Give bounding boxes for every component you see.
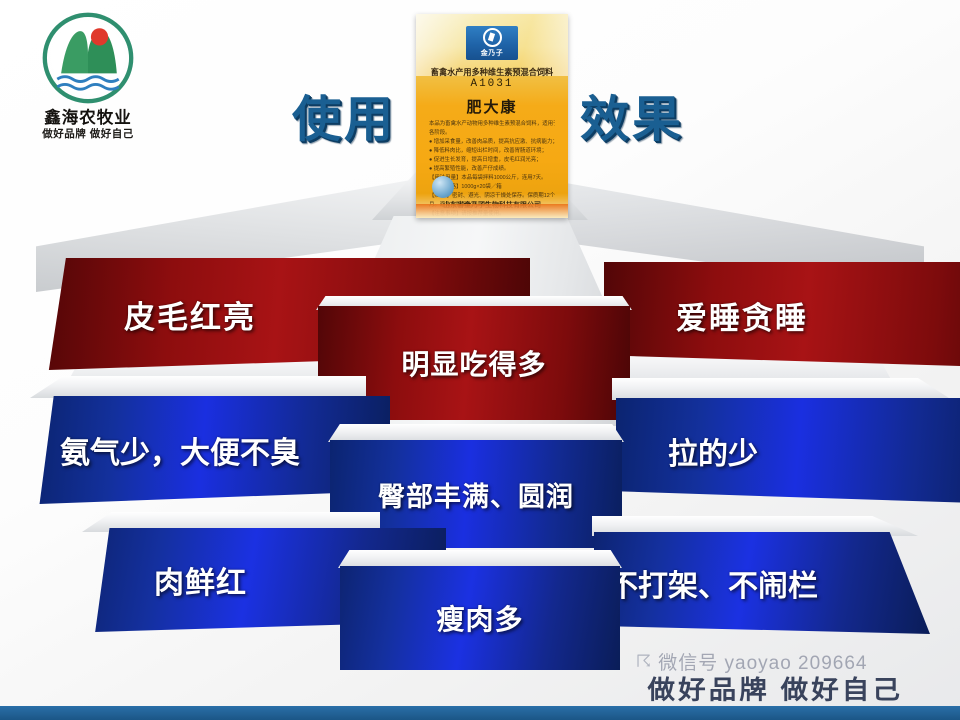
- benefit-label: 氨气少，大便不臭: [60, 428, 300, 472]
- package-category-line: 畜禽水产用多种维生素预混合饲料: [419, 66, 565, 78]
- brand-name: 鑫海农牧业: [18, 104, 158, 128]
- watermark-text: 微信号 yaoyao 209664: [658, 648, 867, 675]
- package-description-line: 各阶段。: [429, 129, 555, 138]
- bottom-accent-bar: [0, 706, 960, 720]
- package-brand-badge: 金乃子: [466, 26, 518, 60]
- benefit-label: 明显吃得多: [401, 343, 546, 383]
- wechat-icon: ☈: [636, 652, 652, 672]
- package-description-line: ● 提高繁殖性能，改善产仔成绩。: [429, 165, 555, 174]
- package-product-code: A1031: [416, 78, 568, 90]
- package-description-line: ● 降低料肉比，缩短出栏时间，改善胃肠道环境；: [429, 147, 555, 156]
- headline-left: 使用: [292, 80, 396, 151]
- slide-canvas: 鑫海农牧业 做好品牌 做好自己 使用 效果 金乃子 畜禽水产用多种维生素预混合饲…: [0, 0, 960, 720]
- package-description-line: 本品为畜禽水产动物用多种维生素预混合饲料，适用于: [429, 120, 555, 129]
- mountain-water-logo-icon: [40, 10, 136, 106]
- benefit-label: 爱睡贪睡: [676, 293, 808, 338]
- brand-slogan: 做好品牌 做好自己: [18, 126, 158, 141]
- quality-seal-icon: [432, 176, 454, 198]
- benefit-label: 拉的少: [668, 429, 758, 473]
- watermark: ☈ 微信号 yaoyao 209664: [636, 648, 867, 675]
- package-bottom-band: [416, 204, 568, 218]
- package-product-title: 肥大康: [416, 96, 568, 117]
- benefit-label: 臀部丰满、圆润: [378, 475, 574, 514]
- package-description-line: ● 增加采食量，改善肉品质，提高抗应激、抗病能力；: [429, 138, 555, 147]
- benefit-label: 皮毛红亮: [124, 292, 256, 337]
- package-description-line: ● 促进生长发育，提高日增重，皮毛红润光亮；: [429, 156, 555, 165]
- benefit-block-blue-right-2[interactable]: 不打架、不闹栏: [594, 532, 930, 634]
- benefit-block-blue-center-2[interactable]: 瘦肉多: [340, 566, 620, 670]
- benefit-label: 肉鲜红: [154, 558, 247, 602]
- benefit-block-red-right[interactable]: 爱睡贪睡: [604, 262, 960, 368]
- brand-logo: 鑫海农牧业 做好品牌 做好自己: [18, 8, 158, 148]
- benefit-label: 不打架、不闹栏: [608, 561, 818, 605]
- product-package: 金乃子 畜禽水产用多种维生素预混合饲料 A1031 肥大康 本品为畜禽水产动物用…: [416, 14, 568, 218]
- package-brand-glyph-icon: [483, 28, 502, 47]
- benefit-label: 瘦肉多: [436, 598, 523, 638]
- headline-right: 效果: [580, 80, 684, 151]
- benefit-block-blue-right[interactable]: 拉的少: [616, 398, 960, 504]
- plate-blue-left: [30, 376, 366, 398]
- package-brand-text: 金乃子: [481, 48, 504, 58]
- plate-blue-right: [612, 378, 952, 400]
